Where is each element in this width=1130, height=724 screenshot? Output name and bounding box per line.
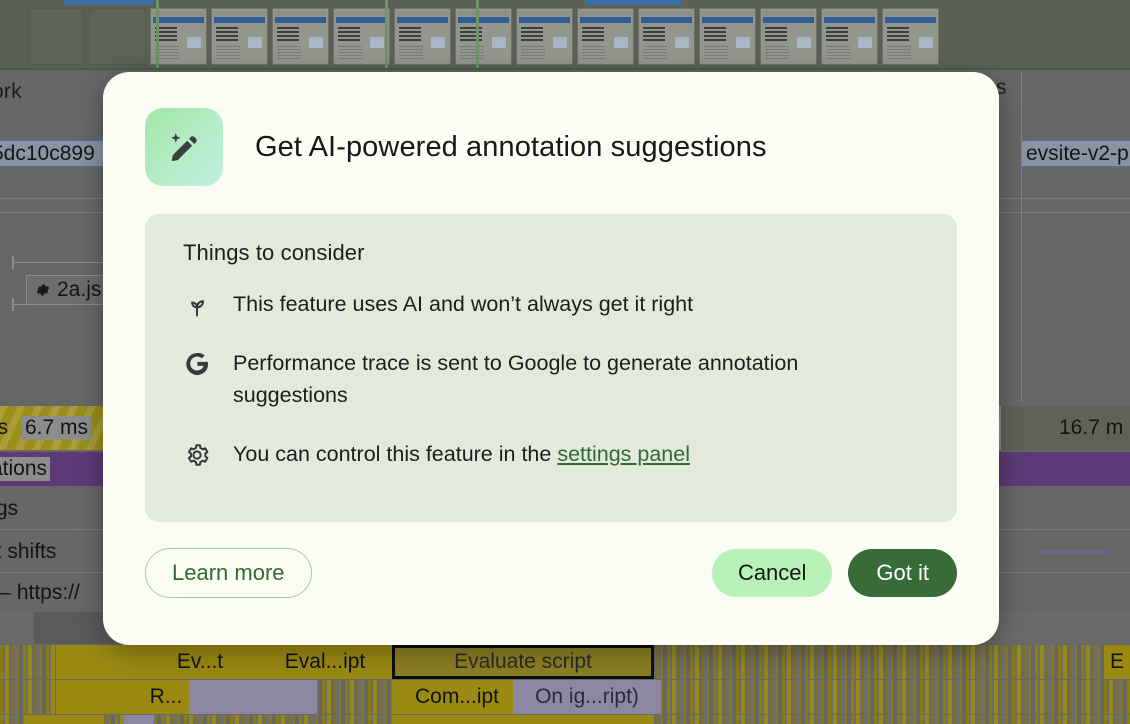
settings-panel-link[interactable]: settings panel xyxy=(557,442,690,466)
card-heading: Things to consider xyxy=(183,240,927,266)
list-item: You can control this feature in the sett… xyxy=(183,438,927,470)
cancel-button[interactable]: Cancel xyxy=(712,549,832,597)
screen: ork s 5dc10c899 evsite-v2-pro 2a.js es xyxy=(0,0,1130,724)
list-item-text: Performance trace is sent to Google to g… xyxy=(233,347,873,411)
pencil-sparkle-glyph xyxy=(163,126,205,168)
dialog-footer: Learn more Cancel Got it xyxy=(145,548,957,598)
list-item-text: You can control this feature in the sett… xyxy=(233,438,690,470)
list-item-text: This feature uses AI and won’t always ge… xyxy=(233,288,693,320)
ai-sparkle-pencil-icon xyxy=(145,108,223,186)
got-it-button[interactable]: Got it xyxy=(848,549,957,597)
list-item: Performance trace is sent to Google to g… xyxy=(183,347,927,411)
list-item: This feature uses AI and won’t always ge… xyxy=(183,288,927,320)
google-g-icon xyxy=(183,350,211,378)
learn-more-button[interactable]: Learn more xyxy=(145,548,312,598)
dialog-header: Get AI-powered annotation suggestions xyxy=(145,108,957,186)
gear-icon xyxy=(183,441,211,469)
list-item-text-prefix: You can control this feature in the xyxy=(233,442,557,466)
footer-actions: Cancel Got it xyxy=(712,549,957,597)
dialog-title: Get AI-powered annotation suggestions xyxy=(255,131,767,164)
sprout-icon xyxy=(183,291,211,319)
consideration-list: This feature uses AI and won’t always ge… xyxy=(183,288,927,470)
things-to-consider-card: Things to consider This feature uses AI … xyxy=(145,214,957,522)
ai-annotations-dialog: Get AI-powered annotation suggestions Th… xyxy=(103,72,999,645)
